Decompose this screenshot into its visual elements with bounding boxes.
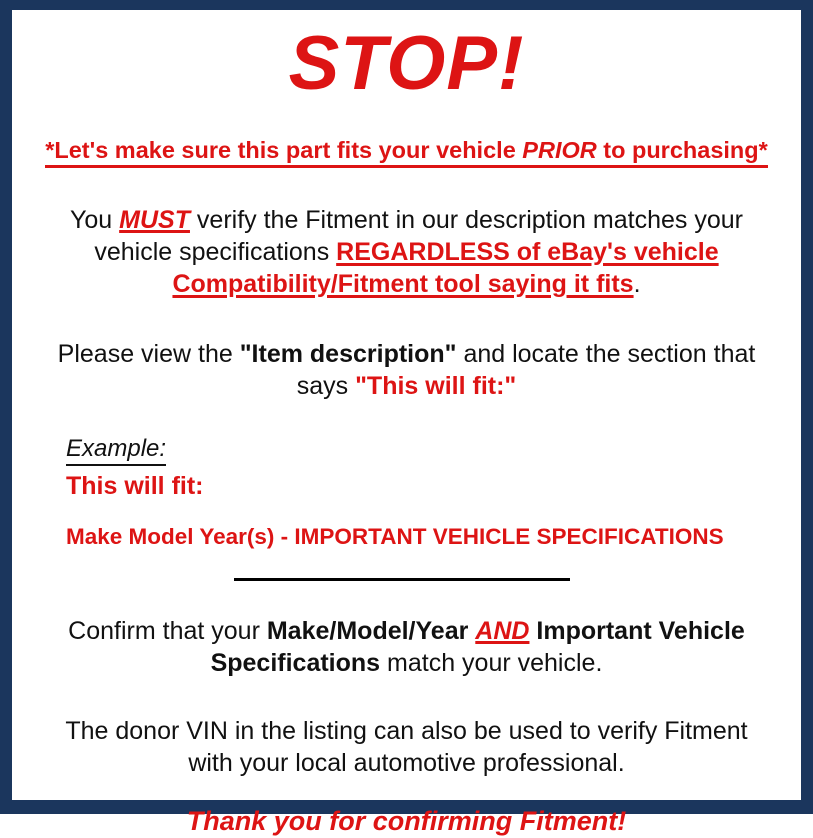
vin-paragraph: The donor VIN in the listing can also be…: [52, 715, 761, 779]
divider: [234, 578, 570, 581]
tagline-emphasis: PRIOR: [522, 137, 596, 163]
tagline-lead: *Let's make sure this part fits your veh…: [45, 137, 522, 163]
example-fitment-line: Make Model Year(s) - IMPORTANT VEHICLE S…: [66, 524, 791, 550]
confirm-part-2: match your vehicle.: [380, 649, 602, 677]
confirm-part-1: Confirm that your: [68, 617, 267, 645]
thank-you-message: Thank you for confirming Fitment!: [22, 805, 791, 837]
and-emphasis: AND: [475, 617, 529, 645]
confirm-paragraph: Confirm that your Make/Model/Year AND Im…: [52, 615, 761, 679]
example-block: Example: This will fit:: [66, 436, 791, 500]
fitment-notice-card: STOP! *Let's make sure this part fits yo…: [0, 0, 813, 814]
tagline-tail: to purchasing*: [597, 137, 768, 163]
page-title: STOP!: [22, 26, 791, 102]
item-description-emphasis: "Item description": [240, 340, 457, 368]
item-desc-part-1: Please view the: [58, 340, 240, 368]
tagline-inner: *Let's make sure this part fits your veh…: [45, 136, 768, 168]
item-description-paragraph: Please view the "Item description" and l…: [52, 338, 761, 402]
this-will-fit-emphasis: "This will fit:": [355, 372, 516, 400]
example-this-will-fit: This will fit:: [66, 472, 791, 501]
must-emphasis: MUST: [119, 206, 190, 234]
must-verify-paragraph: You MUST verify the Fitment in our descr…: [52, 204, 761, 300]
must-part-1: You: [70, 206, 119, 234]
make-model-year-emphasis: Make/Model/Year: [267, 617, 475, 645]
must-part-3: .: [634, 270, 641, 298]
tagline: *Let's make sure this part fits your veh…: [22, 136, 791, 168]
example-label: Example:: [66, 436, 166, 465]
